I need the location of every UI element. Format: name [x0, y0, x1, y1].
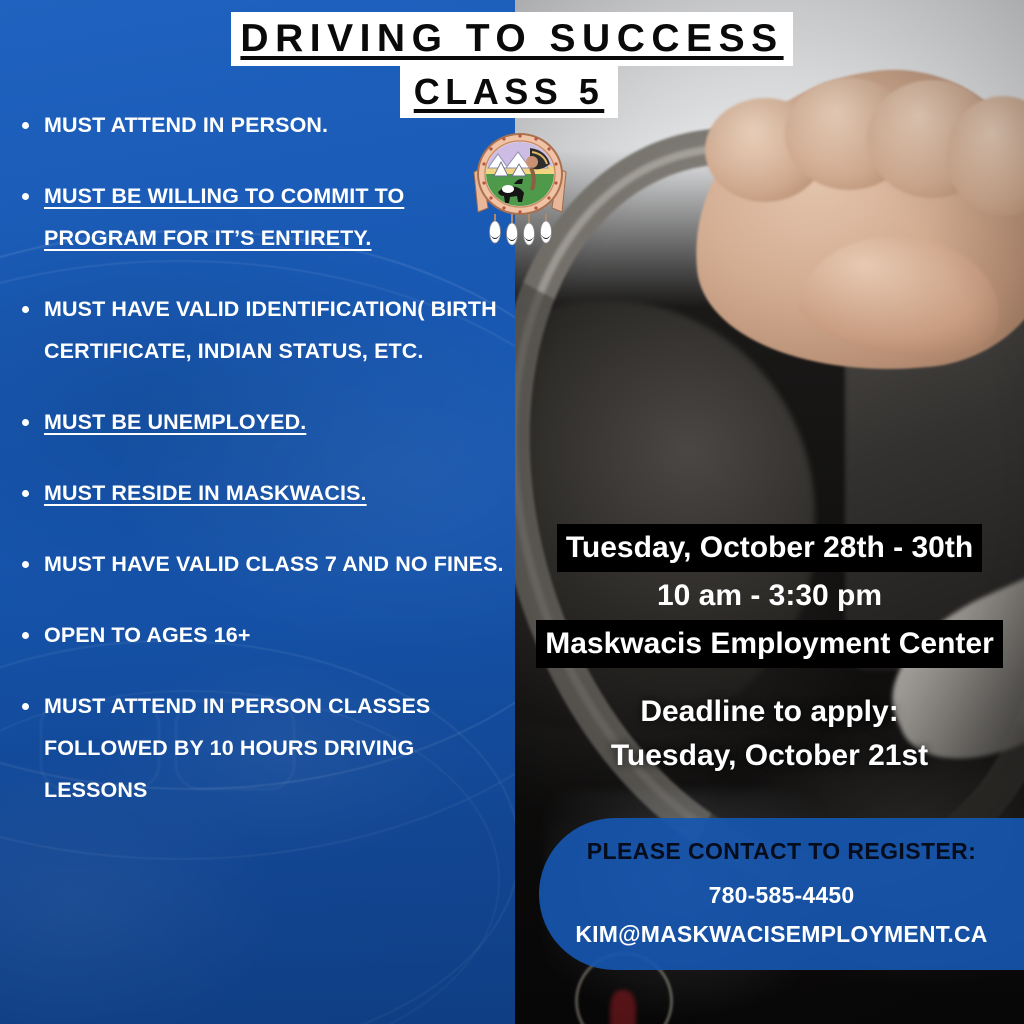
- title-line2-box: CLASS 5: [400, 66, 618, 118]
- page-title-line1: DRIVING TO SUCCESS: [240, 17, 783, 61]
- requirement-text: MUST HAVE VALID IDENTIFICATION( BIRTH CE…: [44, 297, 497, 363]
- requirement-text: MUST HAVE VALID CLASS 7 AND NO FINES.: [44, 552, 504, 576]
- requirement-item: MUST BE UNEMPLOYED.: [0, 401, 515, 443]
- requirement-item: MUST HAVE VALID IDENTIFICATION( BIRTH CE…: [0, 288, 515, 372]
- requirement-item: MUST BE WILLING TO COMMIT TO PROGRAM FOR…: [0, 175, 515, 259]
- contact-panel: PLEASE CONTACT TO REGISTER: 780-585-4450…: [539, 818, 1024, 970]
- event-dates: Tuesday, October 28th - 30th: [557, 524, 982, 572]
- event-details: Tuesday, October 28th - 30th 10 am - 3:3…: [515, 524, 1024, 668]
- indigenous-nation-emblem-icon: [468, 126, 572, 256]
- requirement-item: MUST RESIDE IN MASKWACIS.: [0, 472, 515, 514]
- page-title-line2: CLASS 5: [414, 71, 605, 113]
- requirement-item: MUST HAVE VALID CLASS 7 AND NO FINES.: [0, 543, 515, 585]
- contact-heading: PLEASE CONTACT TO REGISTER:: [539, 834, 1024, 868]
- contact-phone[interactable]: 780-585-4450: [539, 876, 1024, 915]
- requirement-text: MUST ATTEND IN PERSON CLASSES FOLLOWED B…: [44, 694, 430, 802]
- requirement-text: MUST BE UNEMPLOYED.: [44, 410, 306, 434]
- requirement-text: MUST BE WILLING TO COMMIT TO PROGRAM FOR…: [44, 184, 404, 250]
- requirement-text: MUST RESIDE IN MASKWACIS.: [44, 481, 367, 505]
- requirement-item: MUST ATTEND IN PERSON CLASSES FOLLOWED B…: [0, 685, 515, 811]
- title-line1-box: DRIVING TO SUCCESS: [231, 12, 793, 66]
- contact-email[interactable]: KIM@MASKWACISEMPLOYMENT.CA: [539, 915, 1024, 954]
- event-location: Maskwacis Employment Center: [536, 620, 1003, 668]
- deadline-label: Deadline to apply:: [515, 690, 1024, 734]
- left-blue-panel: MUST ATTEND IN PERSON.MUST BE WILLING TO…: [0, 0, 515, 1024]
- requirement-item: OPEN TO AGES 16+: [0, 614, 515, 656]
- requirement-text: MUST ATTEND IN PERSON.: [44, 113, 328, 137]
- deadline-date: Tuesday, October 21st: [515, 734, 1024, 778]
- poster-driving-to-success: MUST ATTEND IN PERSON.MUST BE WILLING TO…: [0, 0, 1024, 1024]
- requirement-text: OPEN TO AGES 16+: [44, 623, 251, 647]
- requirements-list: MUST ATTEND IN PERSON.MUST BE WILLING TO…: [0, 104, 515, 840]
- application-deadline: Deadline to apply: Tuesday, October 21st: [515, 690, 1024, 778]
- event-time: 10 am - 3:30 pm: [648, 572, 891, 620]
- key-fob: [610, 990, 636, 1024]
